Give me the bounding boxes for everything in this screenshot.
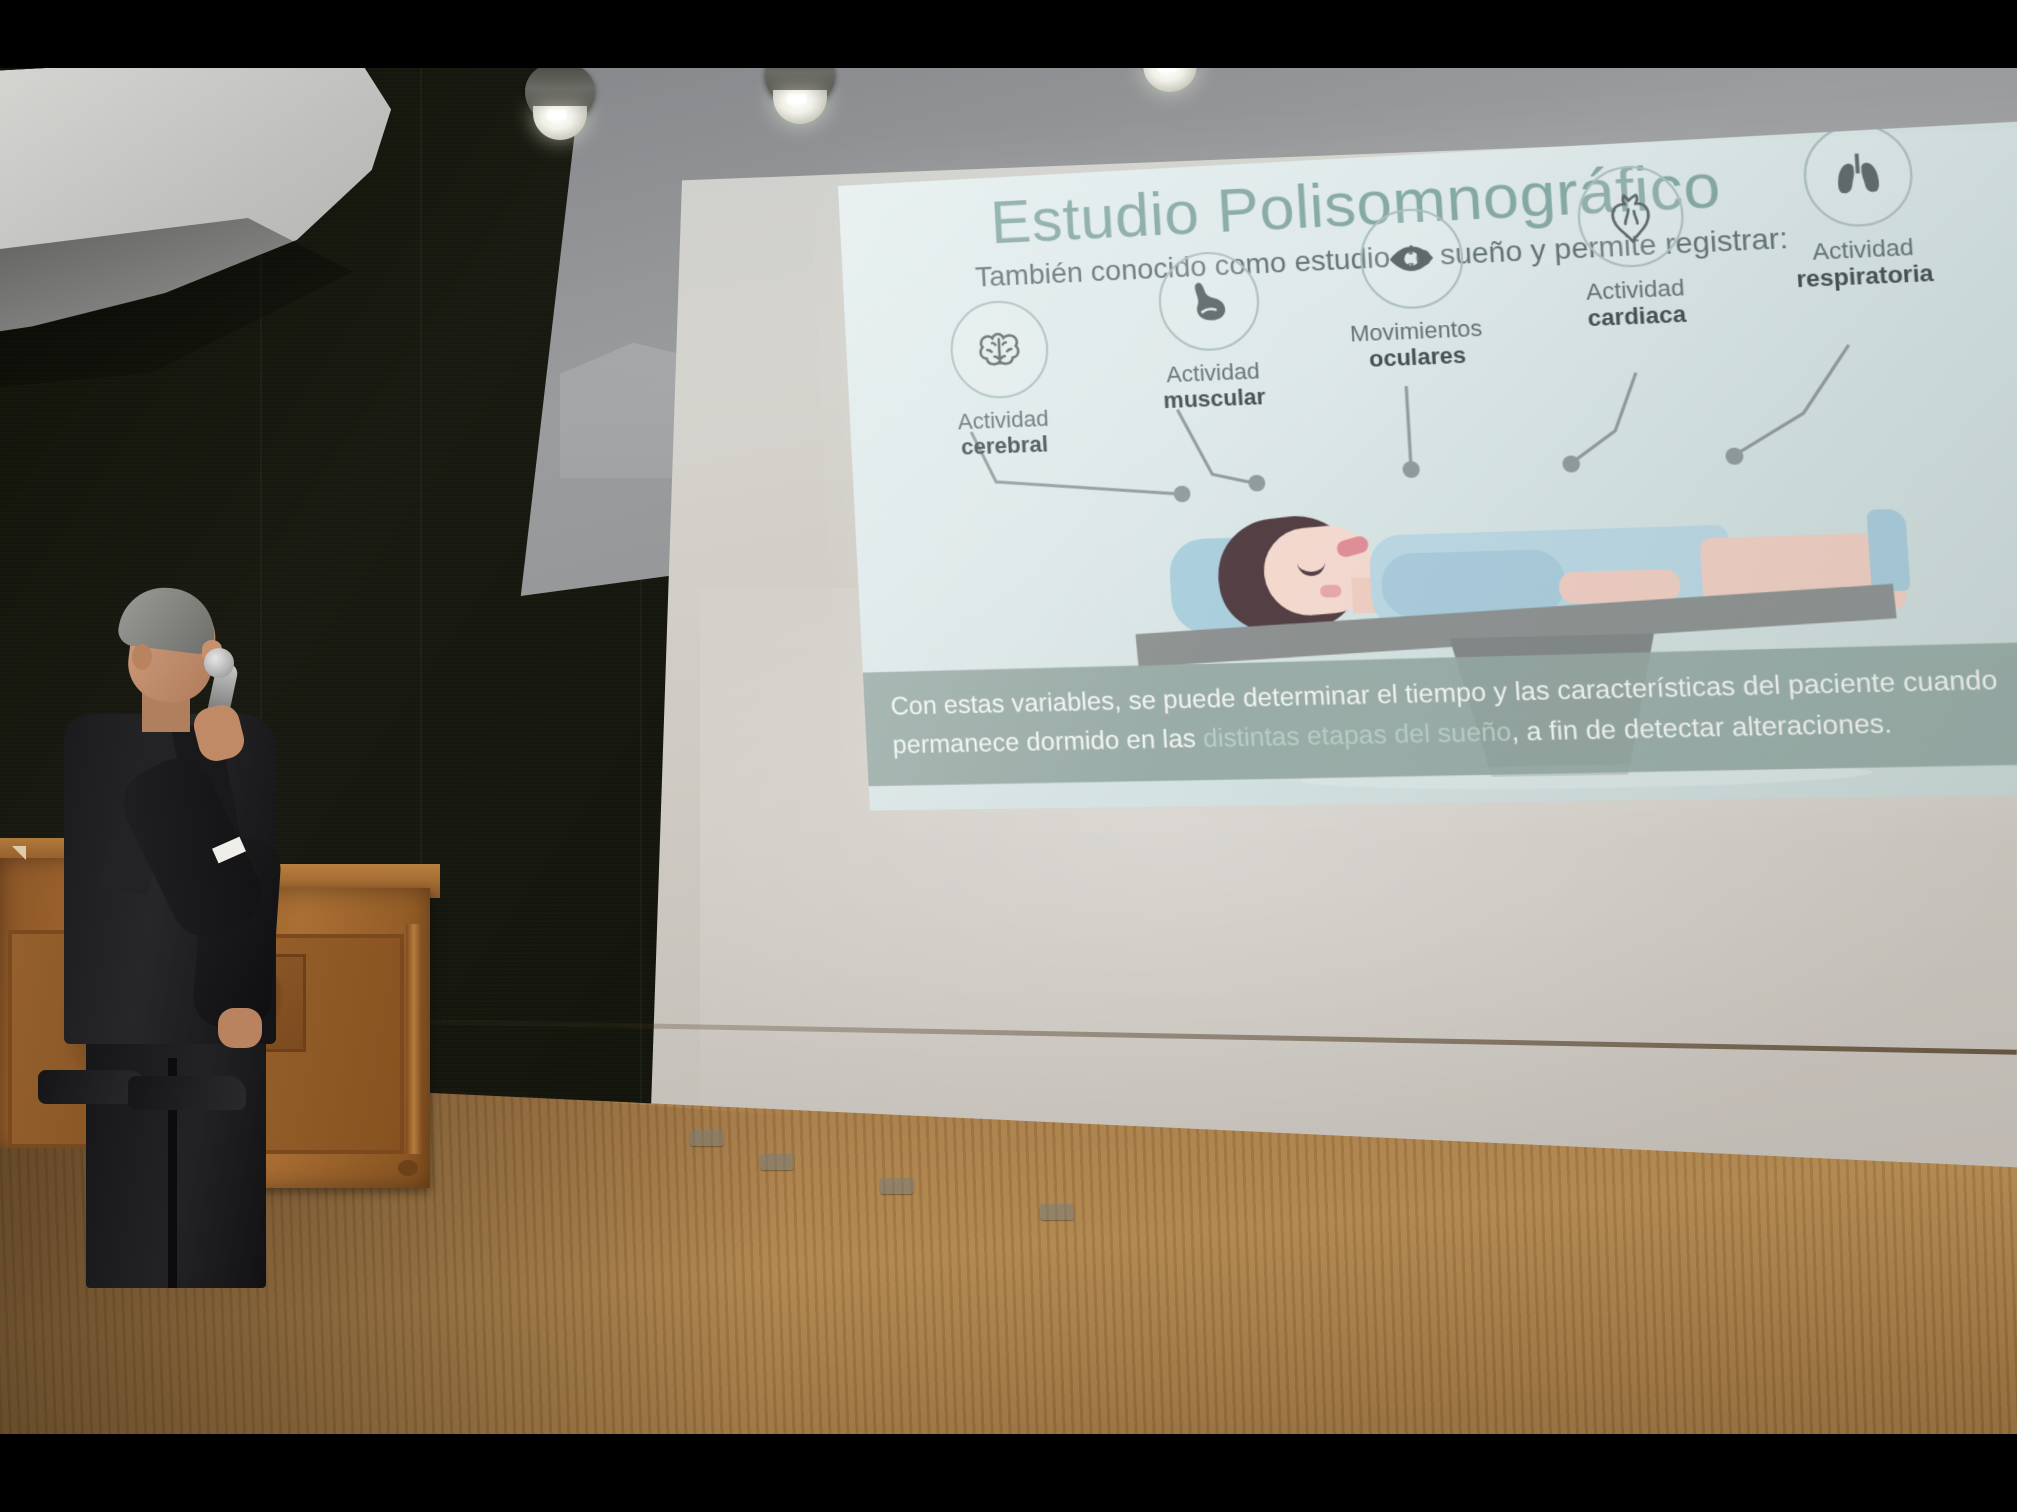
- presenter-ear: [132, 644, 152, 670]
- caption-line-2-prefix: permanece dormido en las: [892, 724, 1204, 759]
- caption-highlight: distintas etapas del sueño: [1202, 717, 1512, 753]
- slide-node-cardiaca: Actividad cardiaca: [1529, 161, 1737, 334]
- slide-node-label: Actividad muscular: [1119, 357, 1310, 415]
- lamp-glint: [1157, 68, 1177, 72]
- slide-node-label: Actividad cerebral: [912, 405, 1097, 462]
- floor-insert-plate: [1040, 1204, 1074, 1220]
- floor-insert-plate: [880, 1178, 914, 1194]
- slide-node-respiratoria: Actividad respiratoria: [1743, 118, 1980, 295]
- slide-caption-band: Con estas variables, se puede determinar…: [838, 638, 2017, 787]
- letterbox-top: [0, 0, 2017, 68]
- photograph: Estudio Polisomnográfico También conocid…: [0, 68, 2017, 1434]
- slide-node-muscular: Actividad muscular: [1113, 248, 1310, 416]
- slide-node-label: Actividad cardiaca: [1536, 273, 1737, 334]
- projected-slide: Estudio Polisomnográfico También conocid…: [838, 117, 2017, 811]
- slide-node-label: Actividad respiratoria: [1750, 232, 1980, 295]
- presenter-shoe-right: [128, 1076, 246, 1110]
- floor-insert-plate: [760, 1154, 794, 1170]
- lectern-column-right: [406, 924, 422, 1154]
- bicep-icon: [1156, 250, 1262, 353]
- patient-cheek: [1320, 585, 1342, 598]
- lectern-foot: [398, 1160, 418, 1176]
- lamp-glint: [547, 110, 567, 120]
- lungs-icon: [1801, 121, 1916, 229]
- eye-icon: [1358, 206, 1466, 311]
- patient-foot: [1866, 509, 1910, 592]
- microphone-head: [204, 648, 234, 678]
- slide-node-oculares: Movimientos oculares: [1303, 203, 1526, 374]
- slide-node-cerebral: Actividad cerebral: [906, 297, 1097, 462]
- presenter-hand-lowered: [218, 1008, 262, 1048]
- caption-line-2-suffix: , a fin de detectar alteraciones.: [1510, 709, 1893, 747]
- slide-node-label: Movimientos oculares: [1309, 314, 1526, 374]
- presenter: [46, 588, 316, 1208]
- bench-corner-detail: [12, 846, 26, 860]
- screenshot-root: Estudio Polisomnográfico También conocid…: [0, 0, 2017, 1512]
- brain-icon: [948, 299, 1051, 400]
- heart-icon: [1575, 163, 1687, 269]
- lamp-glint: [787, 94, 807, 104]
- letterbox-bottom: [0, 1434, 2017, 1512]
- floor-insert-plate: [690, 1130, 724, 1146]
